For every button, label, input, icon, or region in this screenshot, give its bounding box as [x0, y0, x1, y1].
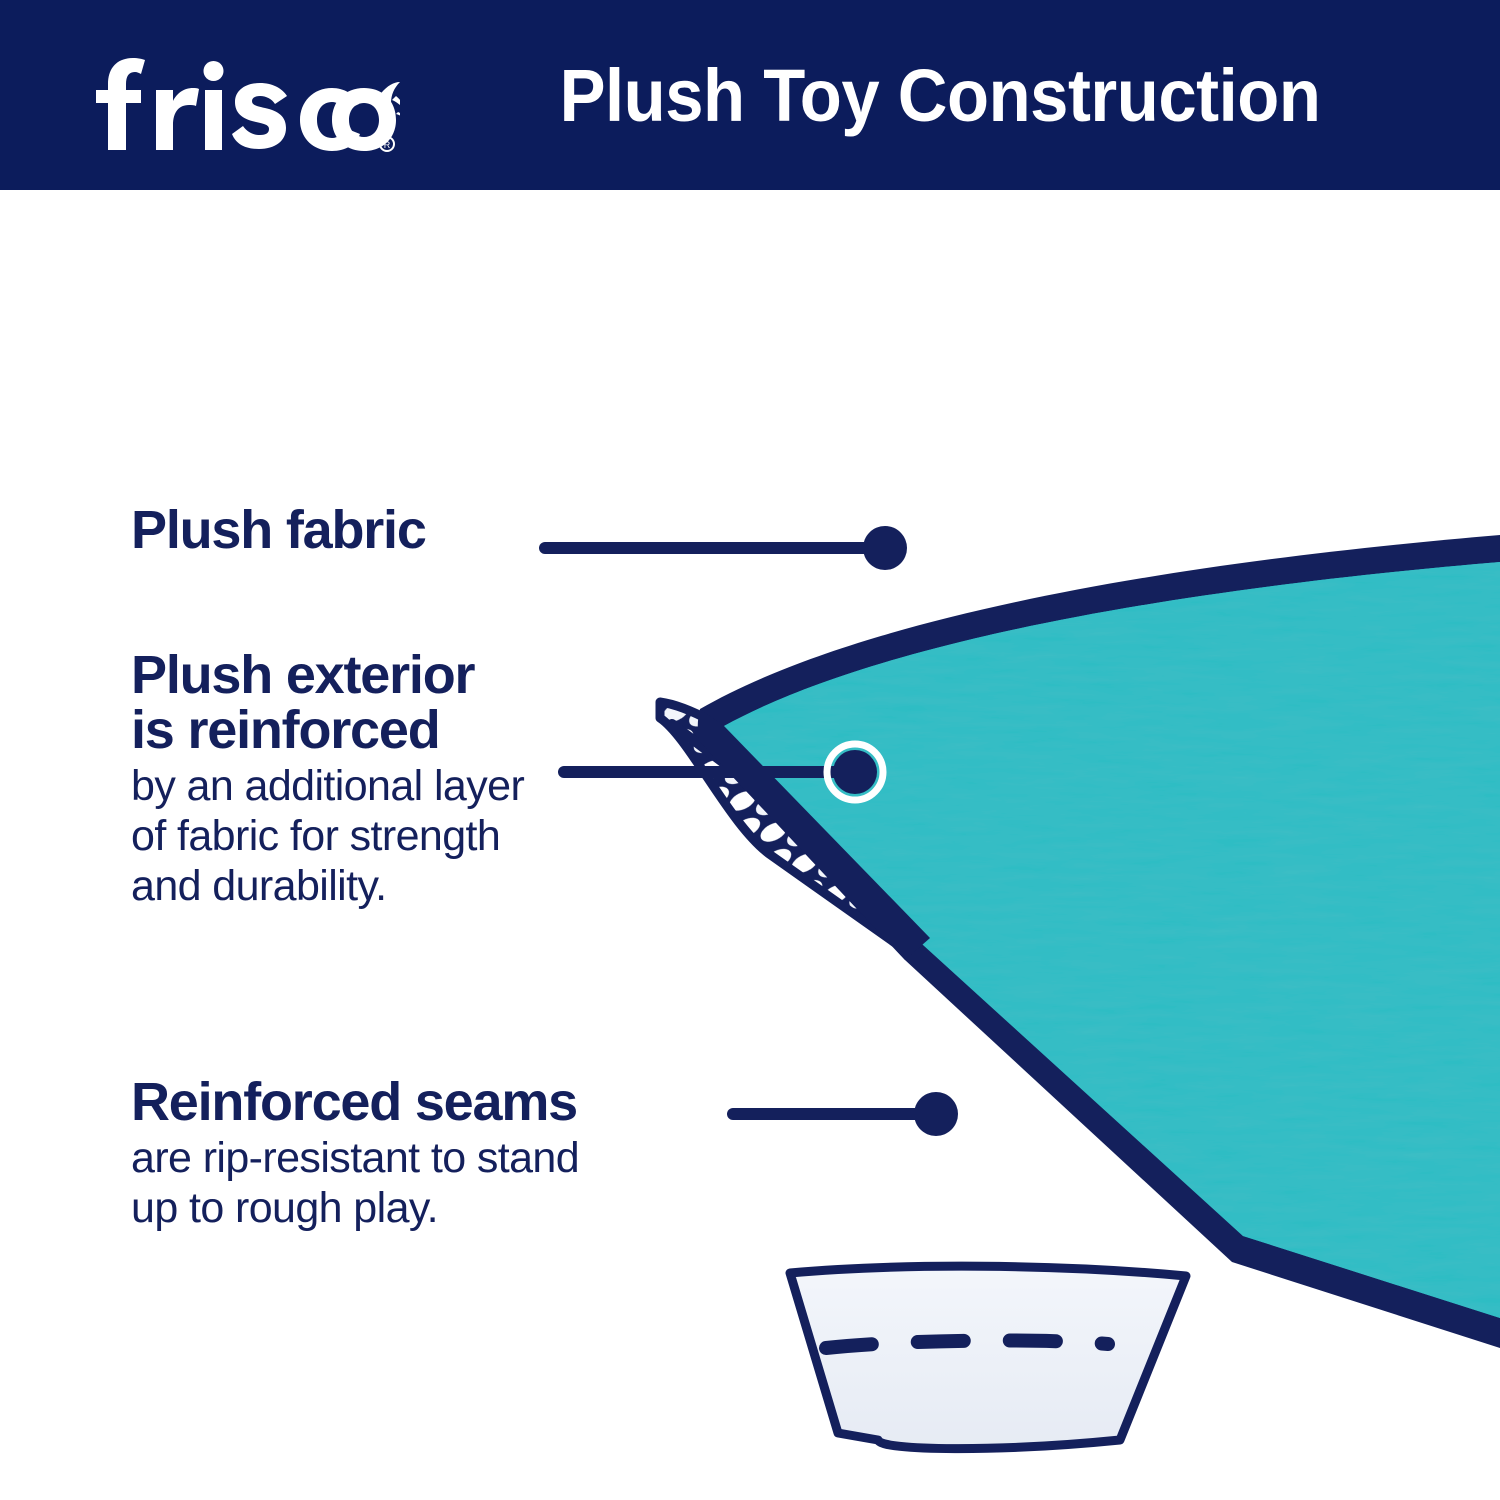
infographic-page: R Plush Toy Construction: [0, 0, 1500, 1500]
callout-plush-exterior-body: by an additional layer of fabric for str…: [131, 762, 524, 912]
svg-text:R: R: [384, 140, 391, 150]
seam-flap-layer: [788, 1266, 1186, 1448]
callout-plush-fabric-headline: Plush fabric: [131, 503, 426, 558]
callout-plush-exterior-headline: Plush exterior is reinforced: [131, 648, 524, 758]
callout-plush-fabric: Plush fabric: [131, 503, 426, 558]
callout-reinforced-seams-body: are rip-resistant to stand up to rough p…: [131, 1134, 579, 1234]
callout-plush-exterior: Plush exterior is reinforced by an addit…: [131, 648, 524, 912]
leader-dot-plush-fabric: [863, 526, 907, 570]
callout-reinforced-seams: Reinforced seams are rip-resistant to st…: [131, 1075, 579, 1234]
leader-dot-plush-exterior: [833, 750, 877, 794]
plush-fabric-layer: [698, 535, 1500, 1348]
page-title: Plush Toy Construction: [475, 0, 1405, 190]
frisco-logo: R: [80, 44, 400, 154]
header-bar: R Plush Toy Construction: [0, 0, 1500, 190]
callout-reinforced-seams-headline: Reinforced seams: [131, 1075, 579, 1130]
leader-dot-reinforced-seams: [914, 1092, 958, 1136]
